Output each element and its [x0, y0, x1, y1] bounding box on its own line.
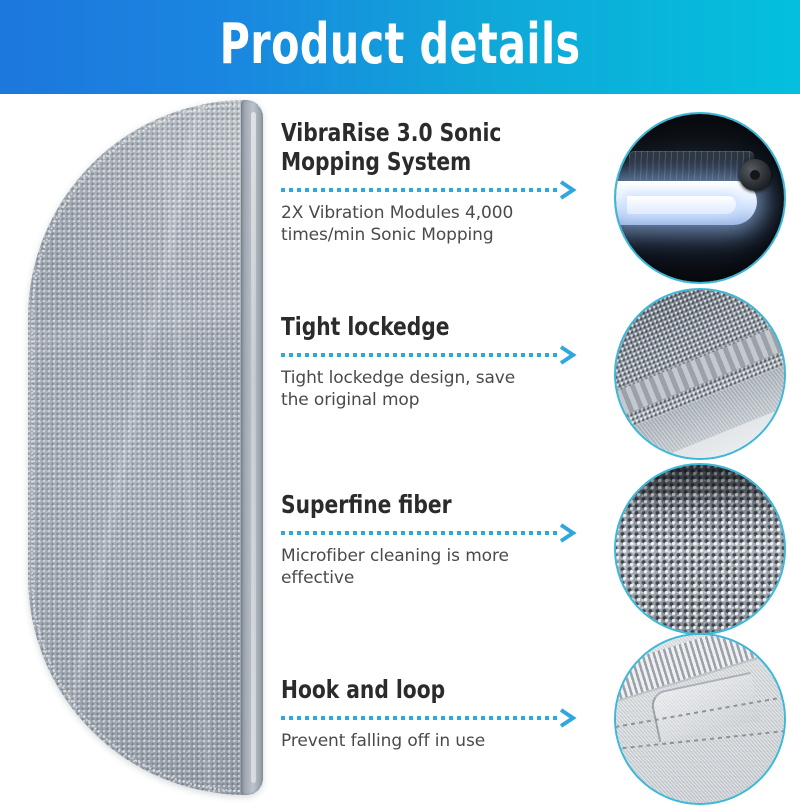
feature-description: Tight lockedge design, save the original… [281, 368, 591, 412]
dotted-line [281, 188, 557, 192]
feature-thumbnail-2 [614, 288, 786, 460]
feature-divider [281, 346, 591, 362]
feature-thumbnail-1 [614, 112, 786, 284]
feature-description: 2X Vibration Modules 4,000 times/min Son… [281, 203, 591, 247]
feature-description: Microfiber cleaning is more effective [281, 546, 591, 590]
dotted-line [281, 353, 557, 357]
feature-row-1: VibraRise 3.0 Sonic Mopping System 2X Vi… [281, 118, 591, 247]
feature-title: Superfine fiber [281, 490, 560, 519]
page-header: Product details [0, 0, 800, 94]
feature-thumbnail-3 [614, 463, 786, 635]
dotted-line [281, 716, 557, 720]
feature-divider [281, 524, 591, 540]
feature-title: Hook and loop [281, 675, 560, 704]
chevron-right-icon [557, 179, 581, 201]
chevron-right-icon [557, 707, 581, 729]
mop-pad-body [28, 100, 263, 795]
feature-row-2: Tight lockedge Tight lockedge design, sa… [281, 312, 591, 412]
feature-title: Tight lockedge [281, 312, 560, 341]
page-title: Product details [220, 17, 581, 77]
feature-description: Prevent falling off in use [281, 731, 591, 753]
feature-title: VibraRise 3.0 Sonic Mopping System [281, 118, 560, 176]
chevron-right-icon [557, 522, 581, 544]
feature-divider [281, 181, 591, 197]
feature-row-4: Hook and loop Prevent falling off in use [281, 675, 591, 753]
microfiber-pile-closeup-photo [616, 465, 784, 633]
product-hero-image [28, 100, 263, 795]
mop-pad-side-edge [241, 100, 263, 795]
chevron-right-icon [557, 344, 581, 366]
feature-divider [281, 709, 591, 725]
stitched-lockedge-closeup-photo [616, 290, 784, 458]
feature-thumbnail-4 [614, 633, 786, 805]
robot-vacuum-underside-lit-mop-photo [616, 114, 784, 282]
hook-and-loop-backing-photo [616, 635, 784, 803]
mop-pad-stitching [31, 103, 260, 792]
mop-pad-edge-highlight [251, 112, 256, 783]
dotted-line [281, 531, 557, 535]
feature-row-3: Superfine fiber Microfiber cleaning is m… [281, 490, 591, 590]
